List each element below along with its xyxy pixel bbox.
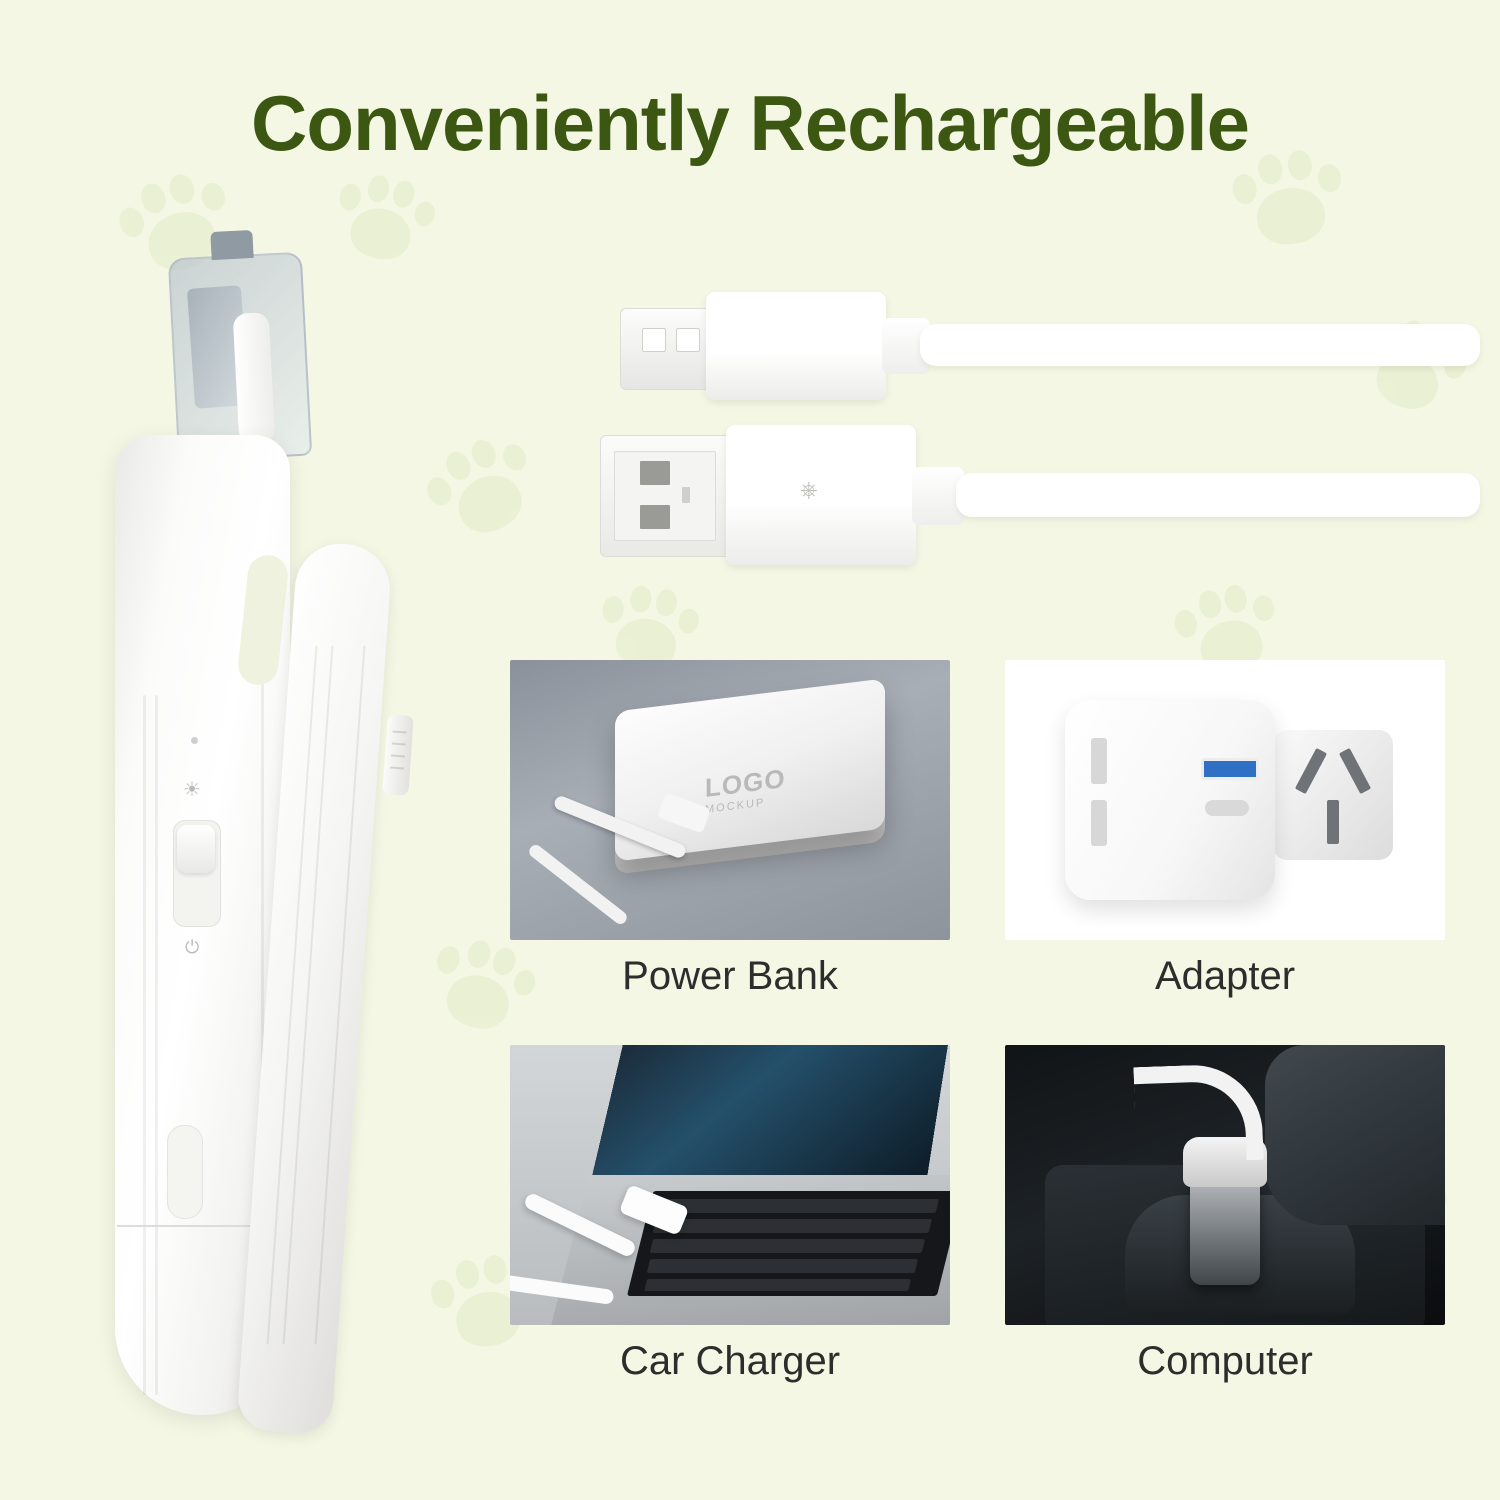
- poster-canvas: Conveniently Rechargeable ☀ ⏻: [0, 0, 1500, 1500]
- usb-logo-icon: ⎈: [800, 477, 818, 503]
- usb-a-cable: ⎈: [600, 425, 1480, 565]
- clipper-upper-arm: [233, 312, 276, 444]
- grid-item-car-charger[interactable]: Car Charger: [510, 1045, 950, 1384]
- adapter-usb-a-port: [1201, 758, 1259, 780]
- usb-a-contact: [640, 461, 670, 485]
- caption-power-bank: Power Bank: [510, 954, 950, 999]
- computer-photo: [1005, 1045, 1445, 1325]
- micro-usb-notch: [676, 328, 700, 352]
- clipper-top-cap: [210, 230, 253, 260]
- usb-a-cable-cord: [956, 473, 1480, 517]
- micro-usb-cable: [620, 280, 1480, 400]
- product-image-nail-clipper: ☀ ⏻: [95, 225, 455, 1425]
- caption-computer: Computer: [1005, 1339, 1445, 1384]
- car-seat: [1265, 1045, 1445, 1225]
- page-title: Conveniently Rechargeable: [0, 78, 1500, 169]
- micro-usb-plug-housing: [706, 292, 886, 400]
- micro-usb-notch: [642, 328, 666, 352]
- car-charger-adapter: [1190, 1175, 1260, 1285]
- usb-a-center-slot: [682, 487, 690, 503]
- caption-adapter: Adapter: [1005, 954, 1445, 999]
- usb-a-plug-housing: [726, 425, 916, 565]
- usb-a-contact: [640, 505, 670, 529]
- grid-item-adapter[interactable]: Adapter: [1005, 660, 1445, 999]
- power-bank-photo: LOGO MOCKUP: [510, 660, 950, 940]
- clipper-led-indicator: [191, 737, 198, 744]
- laptop-screen: [590, 1045, 949, 1184]
- grid-item-power-bank[interactable]: LOGO MOCKUP Power Bank: [510, 660, 950, 999]
- clipper-power-switch[interactable]: [177, 825, 215, 873]
- caption-car-charger: Car Charger: [510, 1339, 950, 1384]
- micro-usb-cable-cord: [920, 324, 1480, 366]
- clipper-side-button[interactable]: [382, 714, 414, 796]
- light-icon: ☀: [183, 777, 201, 802]
- clipper-debris-slot: [167, 1125, 203, 1219]
- adapter-usb-c-port: [1205, 800, 1249, 816]
- adapter-photo: [1005, 660, 1445, 940]
- car-charger-photo: [510, 1045, 950, 1325]
- grid-item-computer[interactable]: Computer: [1005, 1045, 1445, 1384]
- power-icon: ⏻: [185, 937, 199, 958]
